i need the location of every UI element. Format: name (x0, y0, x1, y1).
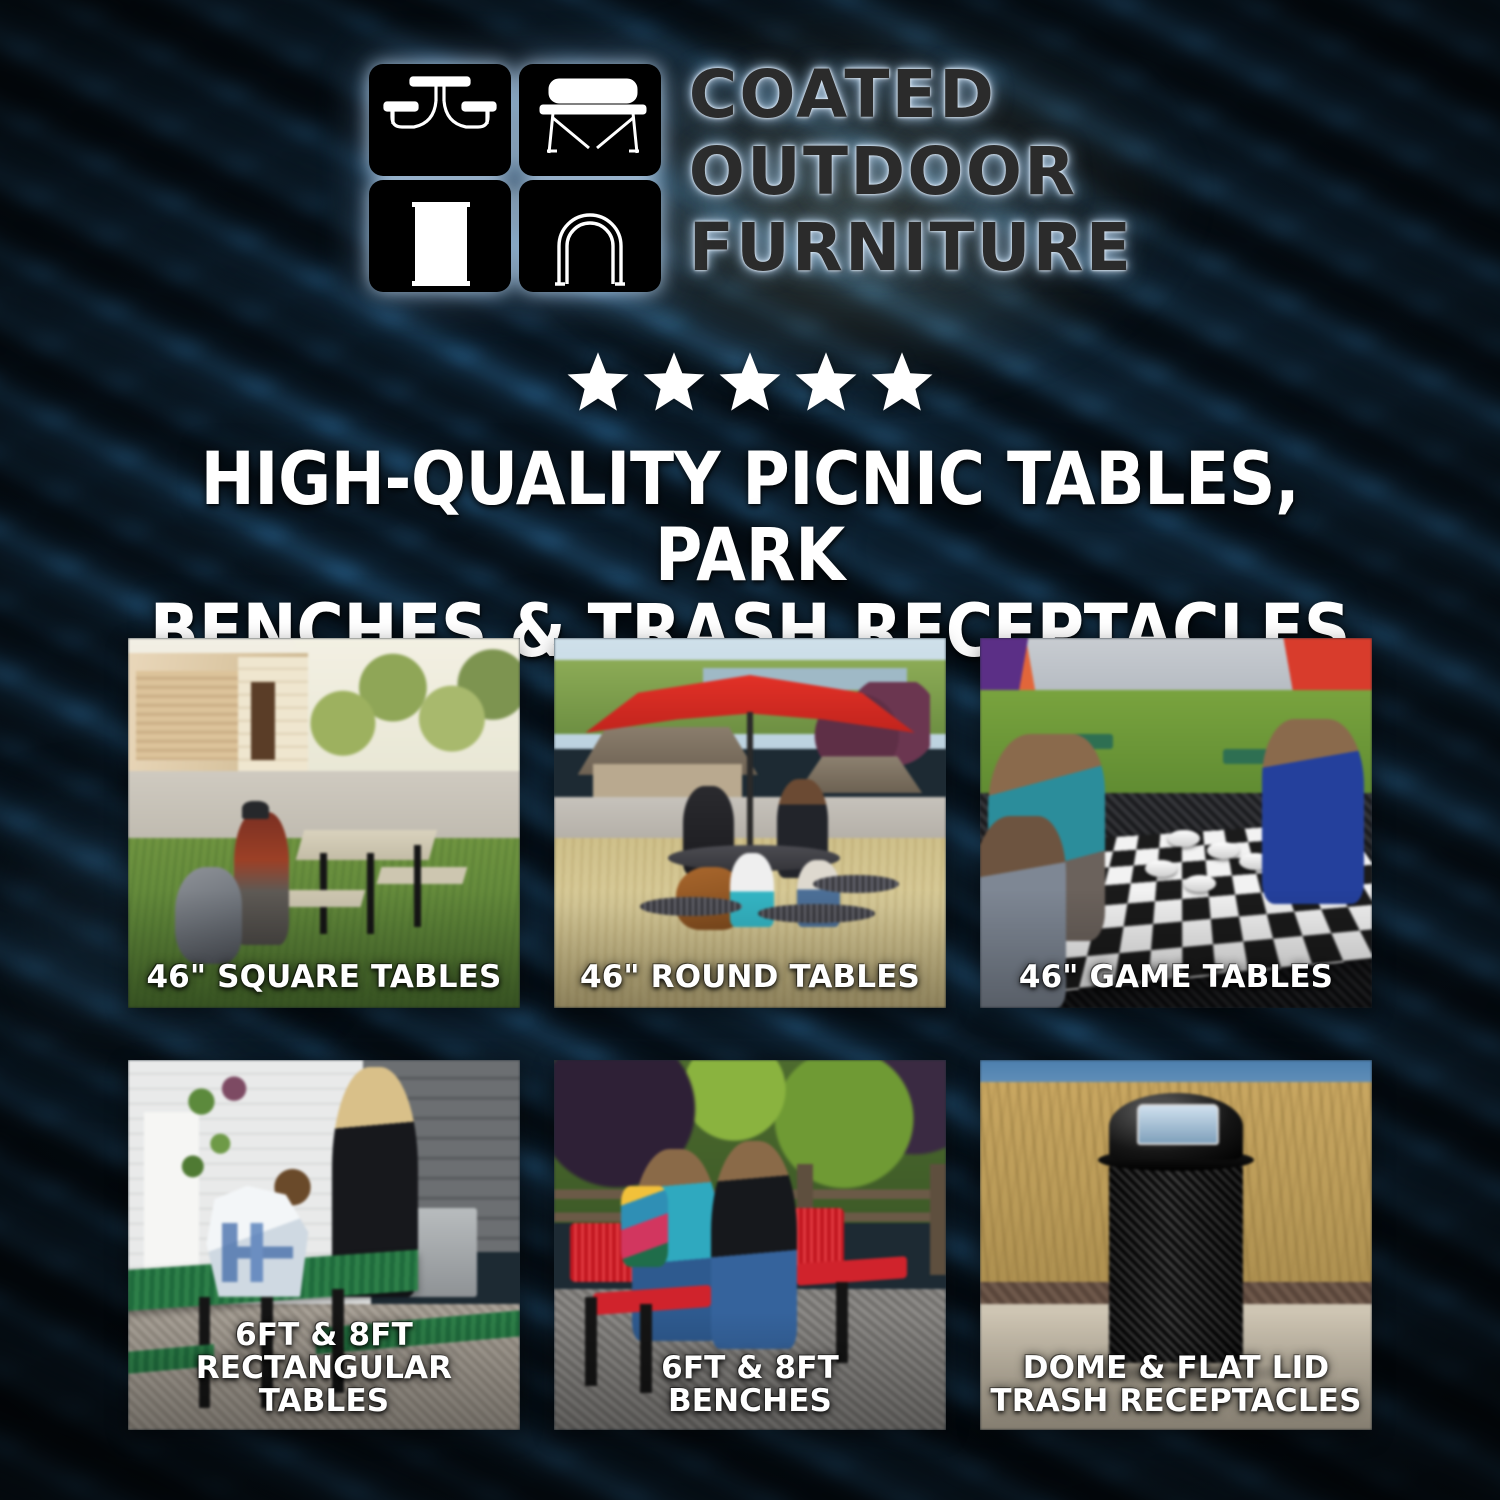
star-icon (719, 352, 781, 412)
product-caption: 46" ROUND TABLES (562, 961, 938, 994)
product-caption: 6FT & 8FT BENCHES (562, 1352, 938, 1418)
wordmark-line-1: COATED (689, 64, 1134, 127)
wordmark-line-3: FURNITURE (689, 217, 1134, 280)
caption-line-2: RECTANGULAR TABLES (136, 1352, 512, 1418)
logo-icon-grid (367, 62, 663, 294)
product-caption: DOME & FLAT LID TRASH RECEPTACLES (988, 1352, 1364, 1418)
caption-line-1: 6FT & 8FT (661, 1350, 839, 1386)
product-tile-game-tables[interactable]: 46" GAME TABLES (980, 638, 1372, 1008)
product-tile-benches[interactable]: 6FT & 8FT BENCHES (554, 1060, 946, 1430)
caption-line-1: 6FT & 8FT (235, 1317, 413, 1353)
brand-logo: COATED OUTDOOR FURNITURE (0, 62, 1500, 294)
product-tile-square-tables[interactable]: 46" SQUARE TABLES (128, 638, 520, 1008)
caption-line-1: 46" GAME TABLES (1019, 959, 1333, 995)
trash-receptacle-icon (412, 202, 470, 286)
page-title: HIGH-QUALITY PICNIC TABLES, PARK BENCHES… (139, 442, 1360, 670)
product-caption: 46" GAME TABLES (988, 961, 1364, 994)
star-icon (643, 352, 705, 412)
product-tile-rectangular-tables[interactable]: 6FT & 8FT RECTANGULAR TABLES (128, 1060, 520, 1430)
caption-line-1: 46" ROUND TABLES (580, 959, 920, 995)
caption-line-1: DOME & FLAT LID (1023, 1350, 1330, 1386)
star-icon (567, 352, 629, 412)
wordmark-line-2: OUTDOOR (689, 141, 1134, 204)
caption-line-1: 46" SQUARE TABLES (146, 959, 501, 995)
star-icon (795, 352, 857, 412)
star-rating (0, 352, 1500, 412)
product-caption: 46" SQUARE TABLES (136, 961, 512, 994)
caption-line-2: TRASH RECEPTACLES (988, 1385, 1364, 1418)
star-icon (871, 352, 933, 412)
brand-wordmark: COATED OUTDOOR FURNITURE (689, 62, 1134, 280)
headline-line-1: HIGH-QUALITY PICNIC TABLES, PARK (139, 442, 1360, 594)
caption-line-2: BENCHES (562, 1385, 938, 1418)
product-caption: 6FT & 8FT RECTANGULAR TABLES (136, 1319, 512, 1418)
product-tile-round-tables[interactable]: 46" ROUND TABLES (554, 638, 946, 1008)
promo-banner: COATED OUTDOOR FURNITURE HIGH-QUALITY PI… (0, 0, 1500, 1500)
product-tile-trash-receptacles[interactable]: DOME & FLAT LID TRASH RECEPTACLES (980, 1060, 1372, 1430)
product-grid: 46" SQUARE TABLES (128, 638, 1372, 1430)
